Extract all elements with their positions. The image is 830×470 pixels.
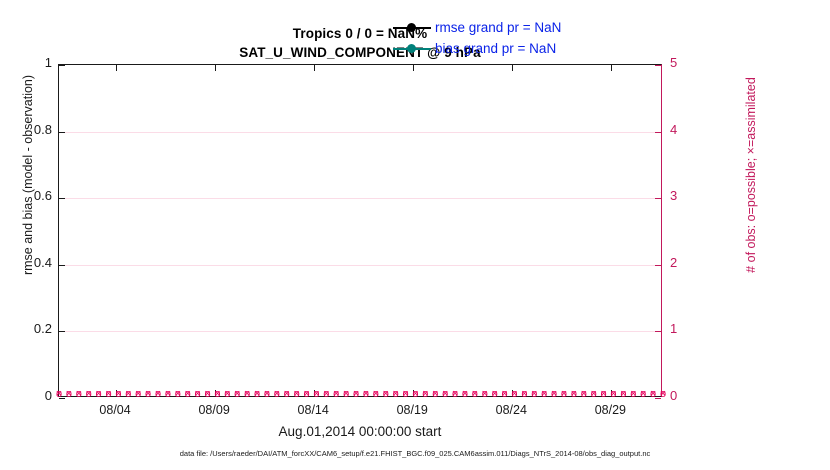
obs-assimilated-marker: × <box>322 390 331 399</box>
obs-possible-marker: o <box>629 390 638 399</box>
obs-possible-marker: o <box>94 390 103 399</box>
obs-possible-marker: o <box>193 390 202 399</box>
x-ticklabel: 08/09 <box>184 403 244 417</box>
data-file-caption: data file: /Users/raeder/DAI/ATM_forcXX/… <box>0 449 830 458</box>
x-tick-bottom <box>413 390 414 396</box>
y-ticklabel-right: 3 <box>670 188 700 203</box>
obs-assimilated-marker: × <box>391 390 400 399</box>
obs-assimilated-marker: × <box>520 390 529 399</box>
obs-assimilated-marker: × <box>64 390 73 399</box>
x-tick-bottom <box>116 390 117 396</box>
obs-assimilated-marker: × <box>233 390 242 399</box>
gridline <box>59 132 661 133</box>
legend-entry-rmse[interactable]: rmse grand pr = NaN <box>392 17 602 38</box>
obs-assimilated-marker: × <box>569 390 578 399</box>
obs-possible-marker: o <box>421 390 430 399</box>
obs-assimilated-marker: × <box>470 390 479 399</box>
obs-assimilated-marker: × <box>253 390 262 399</box>
obs-assimilated-marker: × <box>223 390 232 399</box>
obs-assimilated-marker: × <box>421 390 430 399</box>
x-ticklabel: 08/24 <box>481 403 541 417</box>
obs-assimilated-marker: × <box>609 390 618 399</box>
obs-assimilated-marker: × <box>94 390 103 399</box>
obs-possible-marker: o <box>183 390 192 399</box>
obs-assimilated-marker: × <box>84 390 93 399</box>
obs-possible-marker: o <box>322 390 331 399</box>
obs-assimilated-marker: × <box>272 390 281 399</box>
obs-assimilated-marker: × <box>500 390 509 399</box>
x-ticklabel: 08/04 <box>85 403 145 417</box>
obs-assimilated-marker: × <box>530 390 539 399</box>
obs-assimilated-marker: × <box>540 390 549 399</box>
x-tick-top <box>512 65 513 71</box>
obs-assimilated-marker: × <box>144 390 153 399</box>
obs-assimilated-marker: × <box>282 390 291 399</box>
obs-assimilated-marker: × <box>490 390 499 399</box>
obs-possible-marker: o <box>530 390 539 399</box>
y-tick-left <box>59 65 65 66</box>
obs-assimilated-marker: × <box>332 390 341 399</box>
obs-assimilated-marker: × <box>619 390 628 399</box>
obs-possible-marker: o <box>144 390 153 399</box>
obs-possible-marker: o <box>253 390 262 399</box>
obs-possible-marker: o <box>64 390 73 399</box>
obs-possible-marker: o <box>589 390 598 399</box>
x-tick-bottom <box>611 390 612 396</box>
obs-assimilated-marker: × <box>480 390 489 399</box>
obs-possible-marker: o <box>550 390 559 399</box>
obs-assimilated-marker: × <box>342 390 351 399</box>
obs-possible-marker: o <box>223 390 232 399</box>
x-tick-top <box>611 65 612 71</box>
y-tick-left <box>59 398 65 399</box>
obs-possible-marker: o <box>352 390 361 399</box>
y-ticklabel-right: 1 <box>670 321 700 336</box>
gridline <box>59 198 661 199</box>
obs-possible-marker: o <box>500 390 509 399</box>
y-tick-right <box>655 331 661 332</box>
y-tick-right <box>655 265 661 266</box>
plot-area[interactable]: o×o×o×o×o×o×o×o×o×o×o×o×o×o×o×o×o×o×o×o×… <box>58 64 662 397</box>
obs-possible-marker: o <box>272 390 281 399</box>
gridline <box>59 331 661 332</box>
obs-possible-marker: o <box>243 390 252 399</box>
obs-assimilated-marker: × <box>134 390 143 399</box>
x-tick-top <box>215 65 216 71</box>
obs-possible-marker: o <box>104 390 113 399</box>
x-ticklabel: 08/19 <box>382 403 442 417</box>
obs-possible-marker: o <box>569 390 578 399</box>
obs-possible-marker: o <box>579 390 588 399</box>
obs-possible-marker: o <box>154 390 163 399</box>
obs-assimilated-marker: × <box>74 390 83 399</box>
obs-possible-marker: o <box>302 390 311 399</box>
y-tick-left <box>59 265 65 266</box>
obs-possible-marker: o <box>540 390 549 399</box>
obs-possible-marker: o <box>490 390 499 399</box>
obs-possible-marker: o <box>342 390 351 399</box>
legend-label-rmse: rmse grand pr = NaN <box>435 20 561 35</box>
obs-assimilated-marker: × <box>361 390 370 399</box>
obs-possible-marker: o <box>371 390 380 399</box>
y-ticklabel-right: 0 <box>670 388 700 403</box>
obs-possible-marker: o <box>460 390 469 399</box>
obs-assimilated-marker: × <box>154 390 163 399</box>
obs-assimilated-marker: × <box>559 390 568 399</box>
obs-possible-marker: o <box>262 390 271 399</box>
obs-assimilated-marker: × <box>203 390 212 399</box>
obs-assimilated-marker: × <box>193 390 202 399</box>
obs-possible-marker: o <box>609 390 618 399</box>
obs-possible-marker: o <box>203 390 212 399</box>
legend-label-bias: bias grand pr = NaN <box>435 41 556 56</box>
y-ticklabel-right: 2 <box>670 255 700 270</box>
obs-assimilated-marker: × <box>401 390 410 399</box>
y-ticklabel-right: 5 <box>670 55 700 70</box>
obs-possible-marker: o <box>431 390 440 399</box>
obs-assimilated-marker: × <box>292 390 301 399</box>
obs-assimilated-marker: × <box>163 390 172 399</box>
y-tick-right <box>655 198 661 199</box>
obs-possible-marker: o <box>361 390 370 399</box>
obs-assimilated-marker: × <box>431 390 440 399</box>
x-tick-bottom <box>314 390 315 396</box>
y-tick-right <box>655 65 661 66</box>
legend-marker-bias-icon <box>392 42 432 56</box>
obs-possible-marker: o <box>292 390 301 399</box>
obs-possible-marker: o <box>619 390 628 399</box>
obs-assimilated-marker: × <box>629 390 638 399</box>
legend-marker-rmse-icon <box>392 21 432 35</box>
figure-canvas: Tropics 0 / 0 = NaN% SAT_U_WIND_COMPONEN… <box>0 0 830 470</box>
obs-assimilated-marker: × <box>451 390 460 399</box>
obs-possible-marker: o <box>282 390 291 399</box>
obs-possible-marker: o <box>391 390 400 399</box>
y-tick-right <box>655 132 661 133</box>
y-axis-left-label: rmse and bias (model - observation) <box>21 10 35 340</box>
y-tick-left <box>59 198 65 199</box>
obs-assimilated-marker: × <box>302 390 311 399</box>
y-tick-right <box>655 398 661 399</box>
x-tick-top <box>314 65 315 71</box>
obs-possible-marker: o <box>233 390 242 399</box>
x-tick-top <box>413 65 414 71</box>
obs-possible-marker: o <box>639 390 648 399</box>
obs-possible-marker: o <box>480 390 489 399</box>
obs-possible-marker: o <box>441 390 450 399</box>
obs-possible-marker: o <box>84 390 93 399</box>
obs-assimilated-marker: × <box>579 390 588 399</box>
obs-assimilated-marker: × <box>371 390 380 399</box>
legend-entry-bias[interactable]: bias grand pr = NaN <box>392 38 602 59</box>
obs-possible-marker: o <box>74 390 83 399</box>
x-ticklabel: 08/14 <box>283 403 343 417</box>
obs-assimilated-marker: × <box>381 390 390 399</box>
obs-possible-marker: o <box>332 390 341 399</box>
obs-assimilated-marker: × <box>599 390 608 399</box>
y-ticklabel-left: 0 <box>6 388 52 403</box>
y-ticklabel-right: 4 <box>670 122 700 137</box>
obs-possible-marker: o <box>451 390 460 399</box>
obs-possible-marker: o <box>401 390 410 399</box>
obs-assimilated-marker: × <box>183 390 192 399</box>
obs-assimilated-marker: × <box>589 390 598 399</box>
y-tick-left <box>59 132 65 133</box>
obs-assimilated-marker: × <box>639 390 648 399</box>
obs-assimilated-marker: × <box>124 390 133 399</box>
x-ticklabel: 08/29 <box>580 403 640 417</box>
obs-assimilated-marker: × <box>550 390 559 399</box>
y-axis-right-label: # of obs: o=possible; ×=assimilated <box>744 10 758 340</box>
obs-assimilated-marker: × <box>460 390 469 399</box>
y-tick-left <box>59 331 65 332</box>
observation-count-markers: o×o×o×o×o×o×o×o×o×o×o×o×o×o×o×o×o×o×o×o×… <box>59 390 661 401</box>
obs-possible-marker: o <box>124 390 133 399</box>
gridline <box>59 265 661 266</box>
chart-legend: rmse grand pr = NaN bias grand pr = NaN <box>392 17 602 59</box>
obs-assimilated-marker: × <box>352 390 361 399</box>
obs-possible-marker: o <box>134 390 143 399</box>
obs-possible-marker: o <box>381 390 390 399</box>
obs-possible-marker: o <box>559 390 568 399</box>
obs-possible-marker: o <box>470 390 479 399</box>
obs-assimilated-marker: × <box>243 390 252 399</box>
x-tick-top <box>116 65 117 71</box>
obs-assimilated-marker: × <box>441 390 450 399</box>
obs-possible-marker: o <box>163 390 172 399</box>
obs-assimilated-marker: × <box>173 390 182 399</box>
x-tick-bottom <box>215 390 216 396</box>
obs-possible-marker: o <box>173 390 182 399</box>
obs-possible-marker: o <box>520 390 529 399</box>
obs-assimilated-marker: × <box>262 390 271 399</box>
x-axis-label: Aug.01,2014 00:00:00 start <box>58 424 662 439</box>
obs-assimilated-marker: × <box>104 390 113 399</box>
obs-possible-marker: o <box>599 390 608 399</box>
x-tick-bottom <box>512 390 513 396</box>
